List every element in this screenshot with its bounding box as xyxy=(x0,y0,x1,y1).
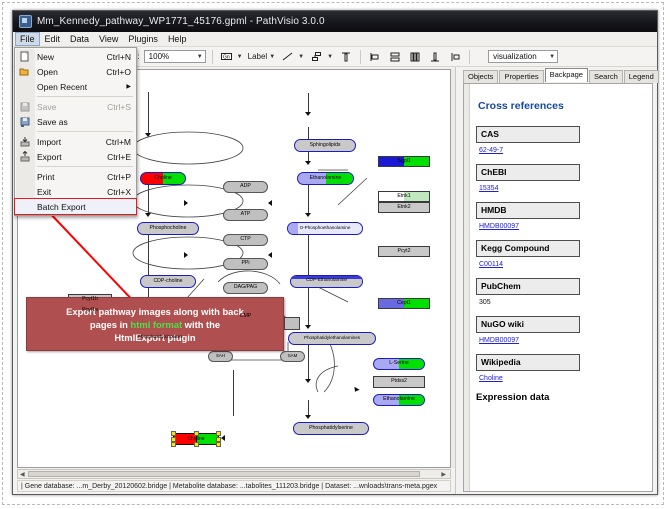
xref-value-pubchem: 305 xyxy=(479,298,646,307)
expression-data-title: Expression data xyxy=(476,392,646,403)
application-window: Mm_Kennedy_pathway_WP1771_45176.gpml - P… xyxy=(12,10,658,495)
selection-handle[interactable] xyxy=(194,431,199,436)
edge xyxy=(308,286,309,326)
toolbar-separator xyxy=(212,50,213,64)
align-top-icon[interactable] xyxy=(338,49,354,65)
menu-item-label: Export xyxy=(37,152,62,162)
tab-search[interactable]: Search xyxy=(589,70,623,83)
menu-item-label: Print xyxy=(37,172,54,182)
node-fill-left xyxy=(288,223,298,234)
zoom-combobox[interactable]: 100% ▼ xyxy=(144,50,206,63)
node-cept1[interactable]: Cept1 xyxy=(378,298,430,309)
node-connector-box[interactable] xyxy=(284,317,300,330)
screenshot-root: Mm_Kennedy_pathway_WP1771_45176.gpml - P… xyxy=(0,0,670,509)
node-l-serine[interactable]: L-Serine xyxy=(373,358,425,370)
chevron-down-icon[interactable]: ▼ xyxy=(327,54,333,60)
cross-references-title: Cross references xyxy=(478,100,646,112)
arrow-icon xyxy=(305,379,311,383)
menu-bar: File Edit Data View Plugins Help xyxy=(13,32,657,47)
align-left-icon[interactable] xyxy=(367,49,383,65)
title-bar: Mm_Kennedy_pathway_WP1771_45176.gpml - P… xyxy=(13,11,657,32)
menu-item-accelerator: Ctrl+S xyxy=(107,102,131,112)
edge xyxy=(148,230,149,278)
callout-line-2a: pages in xyxy=(90,319,131,330)
zoom-value: 100% xyxy=(149,52,169,61)
svg-text:Gn: Gn xyxy=(223,55,230,61)
edge xyxy=(308,93,309,113)
chevron-down-icon[interactable]: ▼ xyxy=(269,54,275,60)
node-o-phosphoethanolamine[interactable]: O-Phosphoethanolamine xyxy=(287,222,363,235)
visualization-value: visualization xyxy=(493,52,537,61)
callout-highlight: html format xyxy=(131,319,183,330)
backpage-panel: Cross references CAS 62-49-7 ChEBI 15354… xyxy=(463,83,653,492)
tab-backpage[interactable]: Backpage xyxy=(545,68,588,82)
menu-view[interactable]: View xyxy=(94,32,123,46)
menu-item-new[interactable]: New Ctrl+N xyxy=(15,49,136,64)
canvas-vertical-scrollbar[interactable] xyxy=(451,69,455,468)
window-title: Mm_Kennedy_pathway_WP1771_45176.gpml - P… xyxy=(37,11,325,32)
menu-item-accelerator: Ctrl+O xyxy=(106,67,131,77)
align-bottom-icon[interactable] xyxy=(427,49,443,65)
menu-item-accelerator: Ctrl+E xyxy=(107,152,131,162)
edge xyxy=(233,370,234,416)
node-ethanolamine[interactable]: Ethanolamine xyxy=(297,172,354,185)
arrow-icon xyxy=(145,213,151,217)
arrow-icon xyxy=(352,387,359,393)
edge xyxy=(308,342,309,380)
export-icon xyxy=(18,151,31,163)
node-pcyt2[interactable]: Pcyt2 xyxy=(378,246,430,257)
arrow-icon xyxy=(305,415,311,419)
menu-item-save-as[interactable]: Save as xyxy=(15,114,136,129)
xref-value-nugo-wiki[interactable]: HMDB00097 xyxy=(479,336,646,345)
scroll-right-icon[interactable]: ▶ xyxy=(439,471,448,478)
selection-handle[interactable] xyxy=(194,442,199,447)
label-button[interactable]: Label xyxy=(248,52,268,61)
backpage-content: Cross references CAS 62-49-7 ChEBI 15354… xyxy=(470,84,652,491)
node-sah[interactable]: SAH xyxy=(208,351,233,362)
xref-label-chebi: ChEBI xyxy=(476,164,580,181)
distribute-columns-icon[interactable] xyxy=(407,49,423,65)
menu-data[interactable]: Data xyxy=(65,32,94,46)
edge xyxy=(308,230,309,278)
arrow-icon xyxy=(221,435,225,441)
visualization-combobox[interactable]: visualization ▼ xyxy=(488,50,558,63)
side-panel-tabs: Objects Properties Backpage Search Legen… xyxy=(463,70,653,83)
menu-plugins[interactable]: Plugins xyxy=(123,32,163,46)
menu-item-label: Exit xyxy=(37,187,51,197)
arrow-icon xyxy=(305,112,311,116)
node-adp[interactable]: ADP xyxy=(223,181,268,193)
menu-item-label: Open Recent xyxy=(37,82,87,92)
toolbar-separator xyxy=(360,50,361,64)
gene-product-icon[interactable]: Gn xyxy=(219,49,235,65)
canvas-horizontal-scrollbar[interactable]: ◀ ▶ xyxy=(17,469,451,479)
selection-handle[interactable] xyxy=(171,442,176,447)
menu-file[interactable]: File xyxy=(15,32,40,46)
xref-label-hmdb: HMDB xyxy=(476,202,580,219)
new-file-icon xyxy=(18,51,31,63)
xref-value-hmdb[interactable]: HMDB00097 xyxy=(479,222,646,231)
node-dag-pag[interactable]: DAG/PAG xyxy=(223,282,268,294)
xref-value-cas[interactable]: 62-49-7 xyxy=(479,146,646,155)
menu-edit[interactable]: Edit xyxy=(40,32,66,46)
menu-separator xyxy=(37,131,133,132)
node-phosphatidylserine[interactable]: Phosphatidylserine xyxy=(293,422,369,435)
menu-item-exit[interactable]: Exit Ctrl+X xyxy=(15,184,136,199)
stack-vertical-icon[interactable] xyxy=(387,49,403,65)
menu-item-label: Save xyxy=(37,102,56,112)
arrow-icon xyxy=(268,252,272,258)
arrow-icon xyxy=(305,325,311,329)
menu-item-open[interactable]: Open Ctrl+O xyxy=(15,64,136,79)
menu-item-save: Save Ctrl+S xyxy=(15,99,136,114)
xref-value-chebi[interactable]: 15354 xyxy=(479,184,646,193)
folder-open-icon xyxy=(18,66,31,78)
arrow-icon xyxy=(305,161,311,165)
arrow-icon xyxy=(268,200,272,206)
stack-right-icon[interactable] xyxy=(447,49,463,65)
tab-objects[interactable]: Objects xyxy=(463,70,498,83)
scroll-left-icon[interactable]: ◀ xyxy=(18,471,27,478)
arrow-icon xyxy=(184,200,188,206)
node-phosphocholine[interactable]: Phosphocholine xyxy=(137,222,199,235)
scrollbar-thumb[interactable] xyxy=(28,471,420,477)
menu-separator xyxy=(37,166,133,167)
toolbar-separator xyxy=(469,50,470,64)
node-ethanolamine-2[interactable]: Ethanolamine xyxy=(373,394,425,406)
node-etnk1[interactable]: Etnk1 xyxy=(378,191,430,202)
edge xyxy=(148,92,149,134)
tab-properties[interactable]: Properties xyxy=(499,70,543,83)
chevron-down-icon: ▼ xyxy=(549,54,555,60)
node-etnk2[interactable]: Etnk2 xyxy=(378,202,430,213)
import-icon xyxy=(18,136,31,148)
anchor-shape-icon[interactable] xyxy=(309,49,325,65)
chevron-down-icon[interactable]: ▼ xyxy=(237,54,243,60)
arrow-icon xyxy=(305,213,311,217)
node-ctp[interactable]: CTP xyxy=(223,234,268,246)
selection-handle[interactable] xyxy=(171,431,176,436)
selection-handle[interactable] xyxy=(216,442,221,447)
menu-help[interactable]: Help xyxy=(163,32,192,46)
node-ptdss2[interactable]: Ptdss2 xyxy=(373,376,425,388)
arrow-icon xyxy=(184,252,188,258)
chevron-right-icon: ▶ xyxy=(126,83,131,90)
menu-separator xyxy=(37,96,133,97)
side-panel: Objects Properties Backpage Search Legen… xyxy=(456,67,657,494)
node-choline[interactable]: Choline xyxy=(140,172,186,185)
file-menu-dropdown: New Ctrl+N Open Ctrl+O Open Recent ▶ Sav… xyxy=(14,47,137,216)
save-as-icon xyxy=(18,116,31,128)
tab-legend[interactable]: Legend xyxy=(624,70,659,83)
chevron-down-icon: ▼ xyxy=(197,54,203,60)
chevron-down-icon[interactable]: ▼ xyxy=(298,54,304,60)
node-phosphatidylethanolamines[interactable]: Phosphatidylethanolamines xyxy=(288,332,376,345)
callout-line-2: pages in html format with the xyxy=(66,318,244,331)
xref-label-wikipedia: Wikipedia xyxy=(476,354,580,371)
node-choline-selected[interactable]: Choline xyxy=(173,433,219,445)
save-icon xyxy=(18,101,31,113)
node-cdp-choline[interactable]: CDP-choline xyxy=(140,275,196,288)
node-sgpl1[interactable]: Sgpl1 xyxy=(378,156,430,167)
pathvisio-app-icon xyxy=(19,15,32,28)
menu-item-label: New xyxy=(37,52,54,62)
menu-item-accelerator: Ctrl+P xyxy=(107,172,131,182)
menu-item-print[interactable]: Print Ctrl+P xyxy=(15,169,136,184)
node-sphingolipids[interactable]: Sphingolipids xyxy=(294,139,356,152)
status-bar: | Gene database: ...m_Derby_20120602.bri… xyxy=(17,480,451,492)
xref-value-wikipedia[interactable]: Choline xyxy=(479,374,646,383)
menu-item-accelerator: Ctrl+X xyxy=(107,187,131,197)
arrow-icon xyxy=(145,133,151,137)
menu-item-label: Save as xyxy=(37,117,68,127)
annotation-callout: Export pathway images along with back pa… xyxy=(26,297,284,351)
line-icon[interactable] xyxy=(280,49,296,65)
callout-line-2b: with the xyxy=(182,319,220,330)
node-ppi[interactable]: PPi xyxy=(223,258,268,270)
node-cdp-ethanolamine[interactable]: CDP-Ethanolamine xyxy=(290,275,363,288)
xref-label-kegg-compound: Kegg Compound xyxy=(476,240,580,257)
xref-label-nugo-wiki: NuGO wiki xyxy=(476,316,580,333)
menu-item-label: Batch Export xyxy=(37,202,86,212)
xref-label-cas: CAS xyxy=(476,126,580,143)
edge xyxy=(308,400,309,416)
menu-item-accelerator: Ctrl+N xyxy=(107,52,131,62)
menu-item-label: Open xyxy=(37,67,58,77)
menu-item-accelerator: Ctrl+M xyxy=(106,137,131,147)
menu-item-export[interactable]: Export Ctrl+E xyxy=(15,149,136,164)
menu-item-import[interactable]: Import Ctrl+M xyxy=(15,134,136,149)
xref-value-kegg-compound[interactable]: C00114 xyxy=(479,260,646,269)
menu-item-batch-export[interactable]: Batch Export xyxy=(15,199,136,214)
xref-label-pubchem: PubChem xyxy=(476,278,580,295)
node-sam[interactable]: SAM xyxy=(280,351,305,362)
node-atp[interactable]: ATP xyxy=(223,209,268,221)
menu-item-label: Import xyxy=(37,137,61,147)
menu-item-open-recent[interactable]: Open Recent ▶ xyxy=(15,79,136,94)
